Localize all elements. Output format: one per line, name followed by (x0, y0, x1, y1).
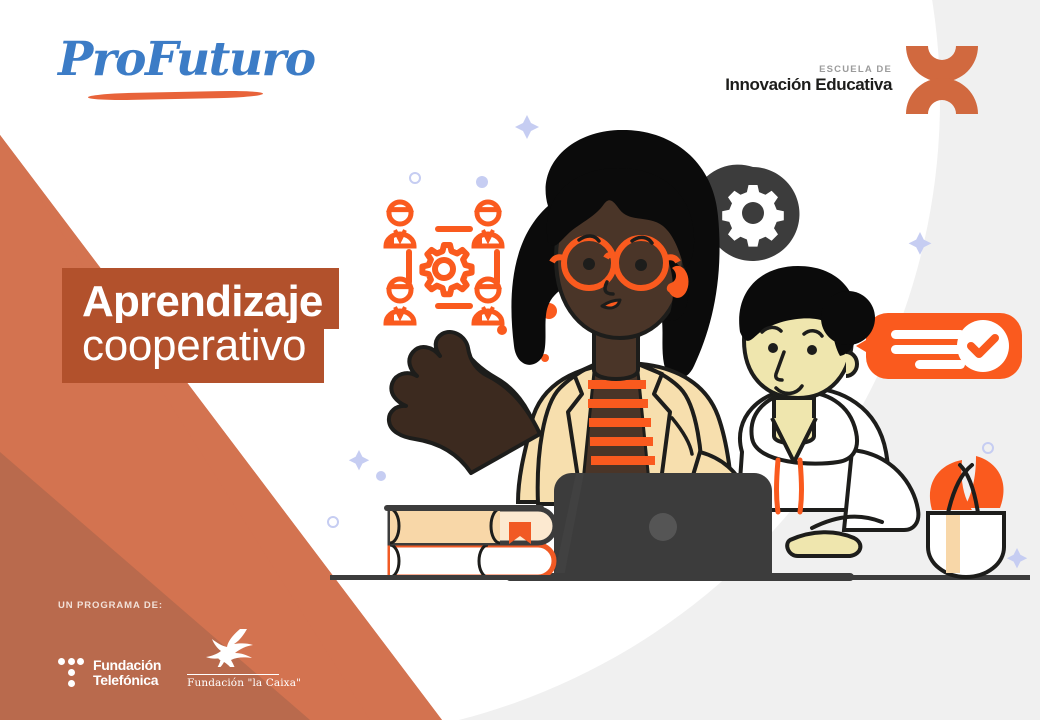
escuela-superline: ESCUELA DE (725, 65, 892, 75)
woman-character (389, 130, 745, 512)
lacaixa-name: Fundación "la Caixa" (187, 675, 279, 689)
profuturo-underline (88, 90, 263, 101)
fundacion-lacaixa-logo: Fundación "la Caixa" (187, 627, 279, 689)
profuturo-wordmark: ProFuturo (58, 36, 288, 83)
poster-canvas: ProFuturo ESCUELA DE Innovación Educativ… (0, 0, 1040, 720)
lacaixa-star-icon (187, 627, 279, 667)
footer-sponsors: UN PROGRAMA DE: Fundación Telefónica (58, 600, 358, 689)
telefonica-dots-icon (58, 658, 84, 688)
page-title-line2: cooperativo (62, 323, 324, 383)
escuela-innovacion-lockup: ESCUELA DE Innovación Educativa (725, 44, 980, 116)
page-title-line1: Aprendizaje (62, 268, 339, 329)
footer-label: UN PROGRAMA DE: (58, 600, 358, 611)
telefonica-name-line2: Telefónica (93, 673, 161, 689)
escuela-name: Innovación Educativa (725, 76, 892, 95)
profuturo-logo: ProFuturo (58, 36, 288, 106)
network-gear-icon (422, 245, 471, 294)
title-block: Aprendizaje cooperativo (62, 268, 339, 383)
gear-icon (722, 185, 784, 247)
telefonica-name-line1: Fundación (93, 658, 161, 674)
fundacion-telefonica-logo: Fundación Telefónica (58, 658, 161, 689)
x-bowtie-icon (904, 44, 980, 116)
checklist-badge (856, 313, 1022, 379)
potted-plant (928, 456, 1004, 577)
